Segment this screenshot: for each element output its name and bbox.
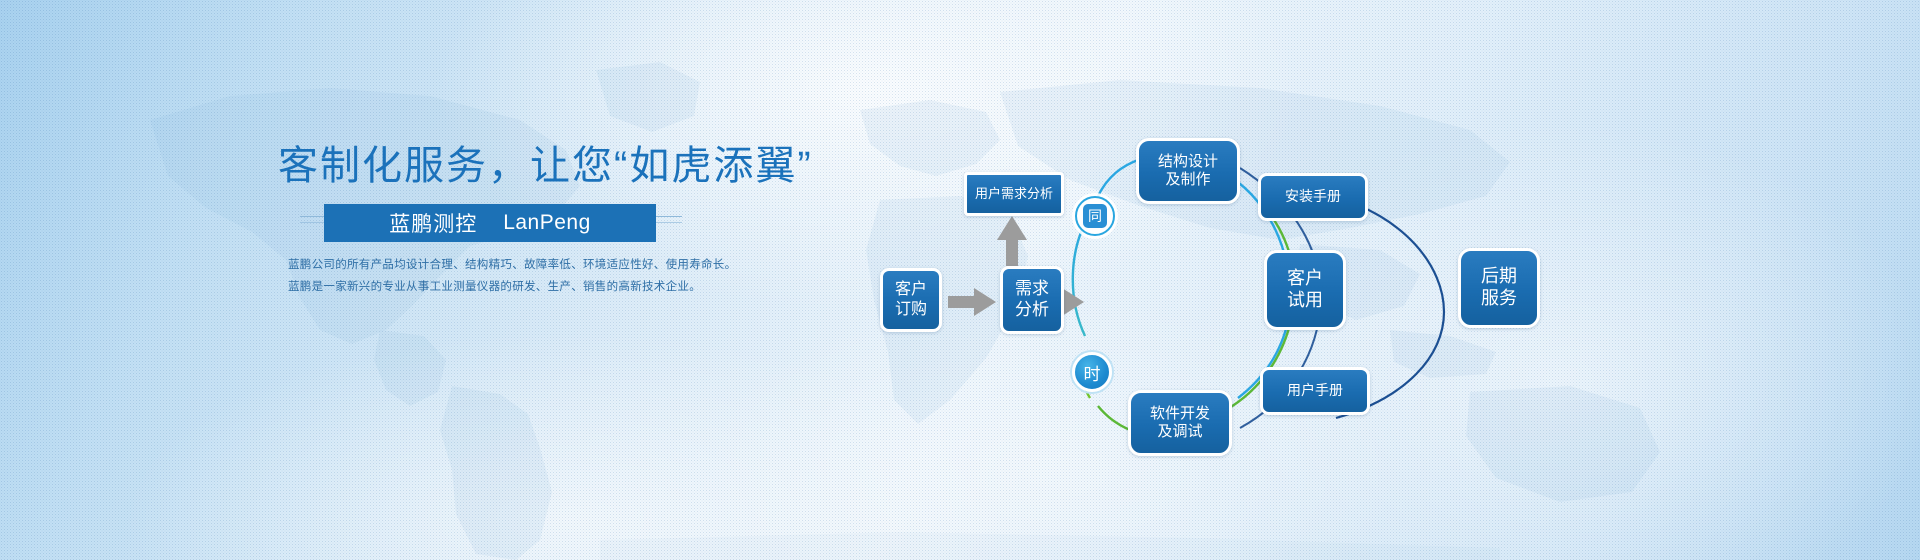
node-label: 软件开发 及调试	[1150, 405, 1210, 442]
node-label: 后期 服务	[1481, 266, 1517, 310]
node-label: 用户需求分析	[975, 186, 1053, 202]
node-label: 结构设计 及制作	[1158, 153, 1218, 190]
badge-label: 时	[1084, 360, 1101, 385]
node-after-service[interactable]: 后期 服务	[1458, 248, 1540, 328]
arrow-analysis-to-demand	[997, 216, 1027, 266]
banner-stage: 客制化服务，让您“如虎添翼” 蓝鹏测控 LanPeng 蓝鹏公司的所有产品均设计…	[0, 0, 1920, 560]
node-label: 需求 分析	[1015, 279, 1049, 320]
node-software-development[interactable]: 软件开发 及调试	[1128, 390, 1232, 456]
node-customer-order[interactable]: 客户 订购	[880, 268, 942, 332]
node-user-demand-analysis[interactable]: 用户需求分析	[964, 172, 1064, 216]
badge-tong: 同	[1075, 196, 1115, 236]
arrow-order-to-analysis	[948, 288, 996, 316]
node-structure-design[interactable]: 结构设计 及制作	[1136, 138, 1240, 204]
node-label: 客户 订购	[895, 280, 927, 319]
node-install-manual[interactable]: 安装手册	[1258, 173, 1368, 221]
process-flow-diagram: 用户需求分析 客户 订购 需求 分析 结构设计 及制作 软件开发 及调试 安装手…	[0, 0, 1920, 560]
node-label: 客户 试用	[1287, 268, 1323, 312]
node-label: 安装手册	[1285, 188, 1341, 205]
flow-connectors	[0, 0, 1920, 560]
badge-shi: 时	[1072, 352, 1112, 392]
node-demand-analysis[interactable]: 需求 分析	[1000, 266, 1064, 334]
node-user-manual[interactable]: 用户手册	[1260, 367, 1370, 415]
node-label: 用户手册	[1287, 382, 1343, 399]
node-customer-trial[interactable]: 客户 试用	[1264, 250, 1346, 330]
badge-label: 同	[1083, 204, 1107, 228]
